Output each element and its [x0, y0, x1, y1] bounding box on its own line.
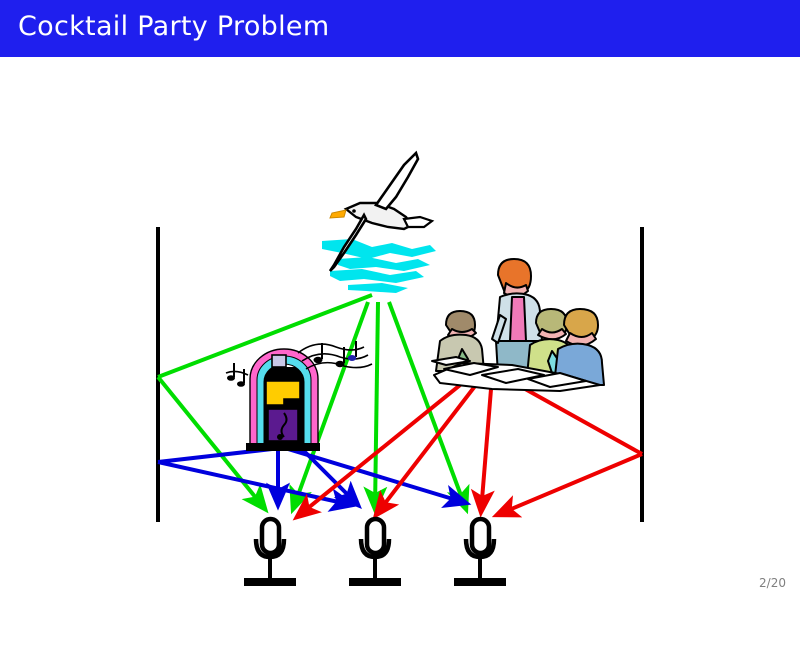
microphone-3-base: [454, 578, 506, 586]
page-title: Cocktail Party Problem: [18, 11, 329, 42]
cocktail-party-diagram: [0, 57, 800, 657]
jukebox-top-cap: [272, 355, 286, 367]
microphone-3: [454, 519, 506, 586]
people-ray-reflected-right-segment2: [497, 454, 642, 515]
people-ray-direct-mic3: [481, 377, 492, 512]
people-meeting-illustration: [432, 259, 604, 391]
page-number: 2/20: [759, 576, 786, 590]
microphone-1: [244, 519, 296, 586]
jukebox-illustration: [226, 341, 372, 451]
slide-title-bar: Cocktail Party Problem: [0, 0, 800, 57]
microphone-1-base: [244, 578, 296, 586]
microphones: [244, 519, 506, 586]
microphone-1-capsule: [262, 519, 279, 553]
water-waves-icon: [322, 239, 436, 293]
seagull-eye-icon: [352, 209, 356, 213]
people-ray-direct-mic2: [376, 377, 482, 515]
seagull-illustration: [322, 153, 436, 293]
microphone-2-capsule: [367, 519, 384, 553]
seagull-tail: [404, 217, 432, 227]
figure-canvas: [0, 57, 800, 600]
jukebox-note-head-icon: [277, 434, 283, 440]
seagull-beak-icon: [330, 210, 346, 218]
jukebox-base: [246, 443, 320, 451]
slide: Cocktail Party Problem: [0, 0, 800, 600]
seagull-upper-wing: [376, 153, 418, 209]
jukebox-music-notes-left-icon: [226, 363, 248, 387]
microphone-2-base: [349, 578, 401, 586]
microphone-3-capsule: [472, 519, 489, 553]
microphone-2: [349, 519, 401, 586]
